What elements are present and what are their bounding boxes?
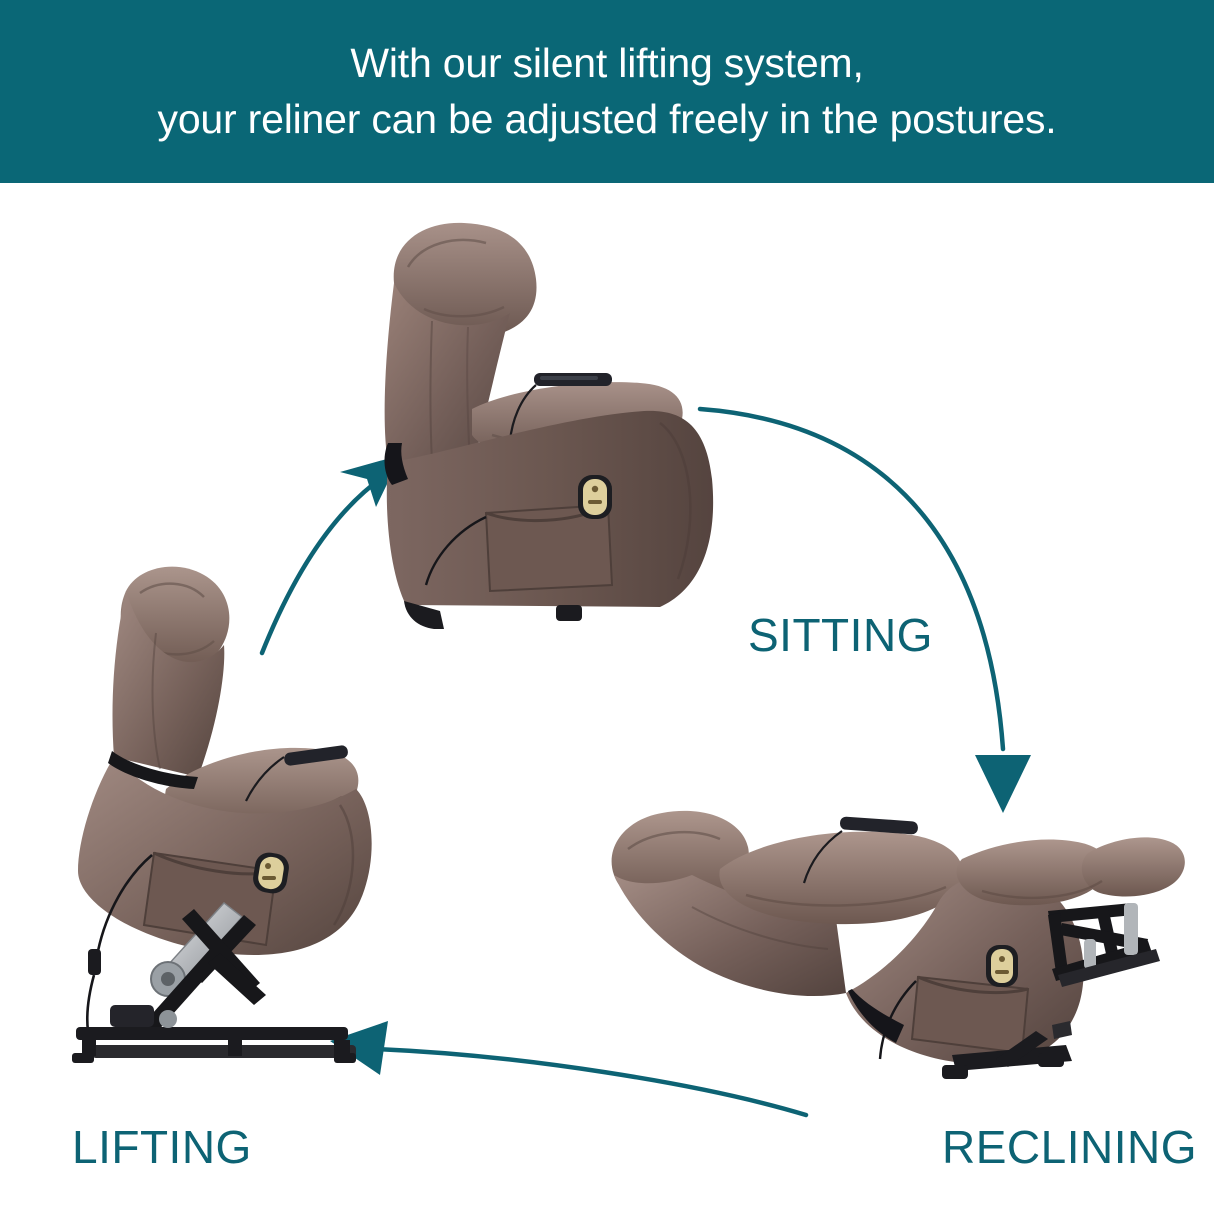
header-banner: With our silent lifting system, your rel… xyxy=(0,0,1214,183)
remote-control-in-pocket xyxy=(986,945,1018,987)
state-label-reclining: RECLINING xyxy=(942,1120,1197,1174)
recliner-sitting-figure xyxy=(360,213,780,673)
posture-cycle-diagram: SITTING LIFTING RECLINING xyxy=(0,183,1214,1214)
recliner-reclining-figure xyxy=(596,763,1196,1113)
recliner-lifting-figure xyxy=(48,553,408,1093)
extended-footrest xyxy=(956,837,1184,905)
armrest-cushion xyxy=(719,832,963,925)
headline-line-1: With our silent lifting system, xyxy=(350,36,863,92)
state-label-lifting: LIFTING xyxy=(72,1120,252,1174)
remote-control-in-pocket xyxy=(578,475,612,519)
headline-line-2: your reliner can be adjusted freely in t… xyxy=(158,92,1057,148)
state-label-sitting: SITTING xyxy=(748,608,933,662)
side-storage-pocket xyxy=(912,977,1028,1053)
